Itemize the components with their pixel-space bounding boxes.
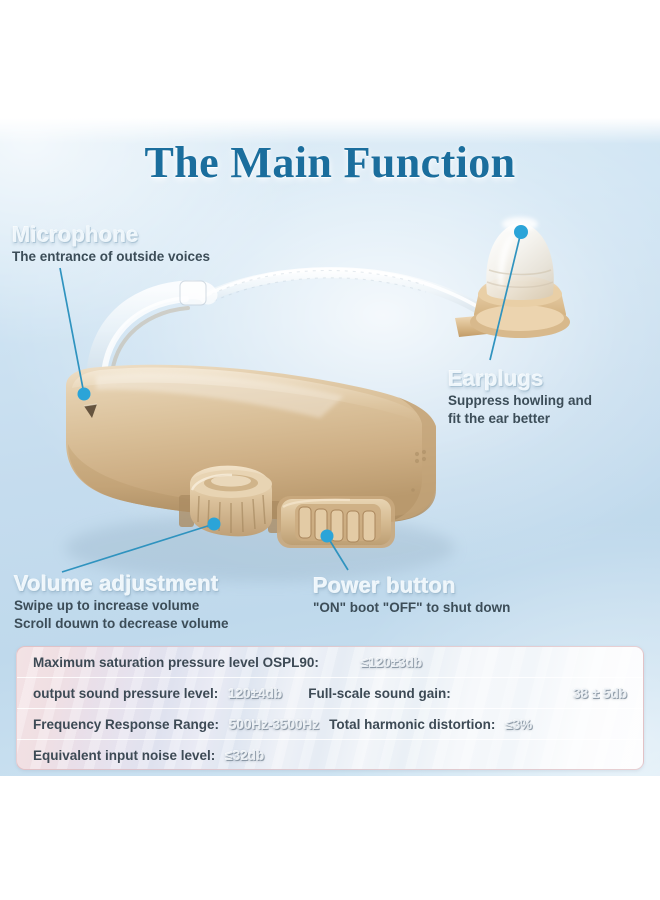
callout-earplugs-line-2: fit the ear better [448,411,592,428]
spec-value-thd: ≤3% [505,717,532,732]
callout-volume-line-2: Scroll douwn to decrease volume [14,616,229,633]
dot-earplugs [514,225,528,239]
spec-row-2: output sound pressure level: 120±4db Ful… [17,678,643,709]
dot-microphone [78,388,91,401]
spec-label-frequency-range: Frequency Response Range: [33,717,219,732]
callout-volume-line-1: Swipe up to increase volume [14,598,229,615]
spec-value-input-noise: ≤32db [225,748,264,763]
specification-table: Maximum saturation pressure level OSPL90… [16,646,644,770]
callout-earplugs: Earplugs Suppress howling and fit the ea… [448,366,592,427]
spec-row-3: Frequency Response Range: 500Hz-3500Hz T… [17,709,643,740]
callout-microphone: Microphone The entrance of outside voice… [12,222,210,266]
callout-volume-heading: Volume adjustment [14,571,229,597]
spec-value-frequency-range: 500Hz-3500Hz [229,717,319,732]
callout-power-line-1: "ON" boot "OFF" to shut down [313,600,510,617]
spec-value-full-scale-gain: 38 ± 5db [573,686,627,701]
spec-label-thd: Total harmonic distortion: [329,717,495,732]
spec-value-output-spl: 120±4db [228,686,282,701]
callout-power-button: Power button "ON" boot "OFF" to shut dow… [313,573,510,617]
dot-power [321,530,334,543]
leader-earplugs [490,232,521,360]
dot-volume [208,518,221,531]
callout-microphone-line-1: The entrance of outside voices [12,249,210,266]
callout-volume-adjustment: Volume adjustment Swipe up to increase v… [14,571,229,632]
spec-row-1: Maximum saturation pressure level OSPL90… [17,647,643,678]
callout-earplugs-line-1: Suppress howling and [448,393,592,410]
spec-label-ospl90: Maximum saturation pressure level OSPL90… [33,655,319,670]
infographic-canvas: The Main Function [0,0,660,900]
leader-volume [62,524,214,572]
spec-label-output-spl: output sound pressure level: [33,686,218,701]
spec-label-input-noise: Equivalent input noise level: [33,748,215,763]
spec-row-4: Equivalent input noise level: ≤32db [17,740,643,770]
leader-microphone [60,268,84,394]
callout-power-heading: Power button [313,573,510,599]
callout-earplugs-heading: Earplugs [448,366,592,392]
spec-label-full-scale-gain: Full-scale sound gain: [308,686,451,701]
spec-value-ospl90: ≤120±3db [361,655,422,670]
callout-microphone-heading: Microphone [12,222,210,248]
